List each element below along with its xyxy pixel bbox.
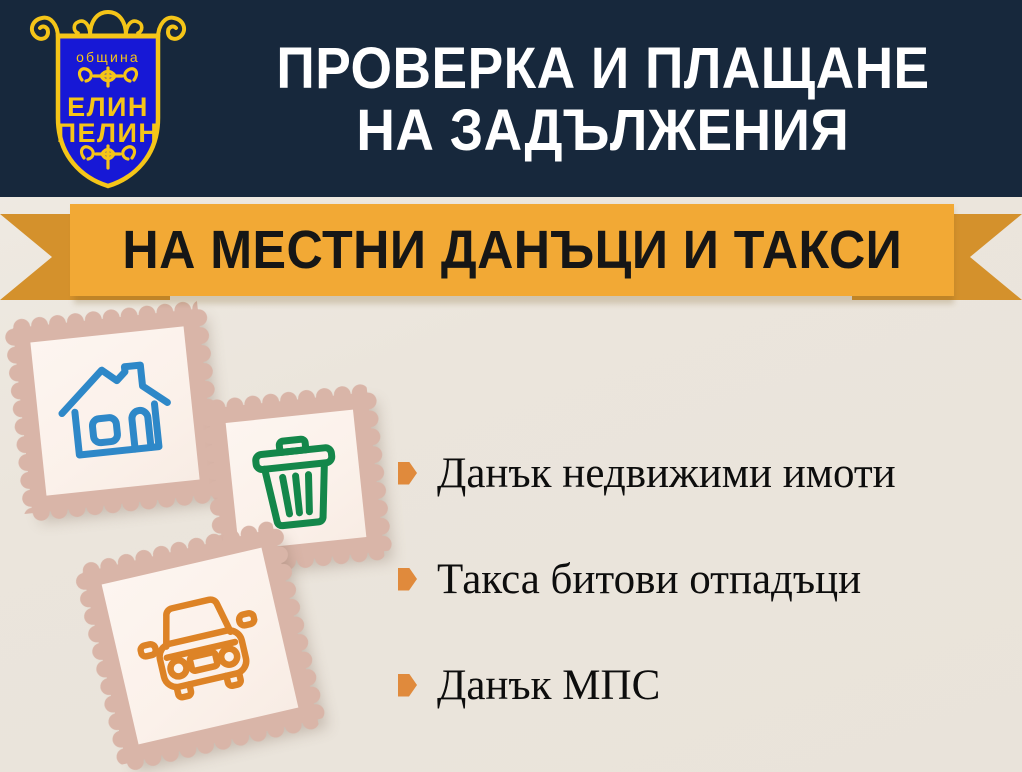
list-item-label: Такса битови отпадъци <box>437 558 861 601</box>
page-title-line-2: НА ЗАДЪЛЖЕНИЯ <box>357 100 850 162</box>
list-item: Такса битови отпадъци <box>398 526 1008 632</box>
house-icon <box>52 353 178 469</box>
stamp-card-property <box>13 309 217 513</box>
list-item: Данък недвижими имоти <box>398 420 1008 526</box>
poster-canvas: община ЕЛИН ПЕЛИН ПРОВЕРКА <box>0 0 1022 772</box>
list-item-label: Данък недвижими имоти <box>437 452 896 495</box>
stamp-card-face <box>102 548 299 745</box>
list-item: Данък МПС <box>398 632 1008 738</box>
ribbon-banner: НА МЕСТНИ ДАНЪЦИ И ТАКСИ <box>70 204 954 296</box>
page-title: ПРОВЕРКА И ПЛАЩАНЕ НА ЗАДЪЛЖЕНИЯ <box>196 14 1010 186</box>
car-icon <box>128 582 272 709</box>
page-title-line-1: ПРОВЕРКА И ПЛАЩАНЕ <box>276 38 929 100</box>
ribbon-text: НА МЕСТНИ ДАНЪЦИ И ТАКСИ <box>122 219 902 281</box>
trash-icon <box>245 425 347 534</box>
subtitle-ribbon: НА МЕСТНИ ДАНЪЦИ И ТАКСИ <box>0 196 1022 308</box>
stamp-card-face <box>30 326 199 495</box>
municipality-crest-logo: община ЕЛИН ПЕЛИН <box>24 6 192 192</box>
tax-type-list: Данък недвижими имоти Такса битови отпад… <box>398 420 1008 738</box>
stamp-card-vehicle <box>82 528 317 763</box>
bullet-arrow-icon <box>398 568 417 591</box>
crest-top-label: община <box>76 49 140 65</box>
bullet-arrow-icon <box>398 674 417 697</box>
list-item-label: Данък МПС <box>437 664 660 707</box>
crest-name-line2: ПЕЛИН <box>57 118 160 148</box>
stamp-card-group <box>0 296 420 772</box>
bullet-arrow-icon <box>398 462 417 485</box>
